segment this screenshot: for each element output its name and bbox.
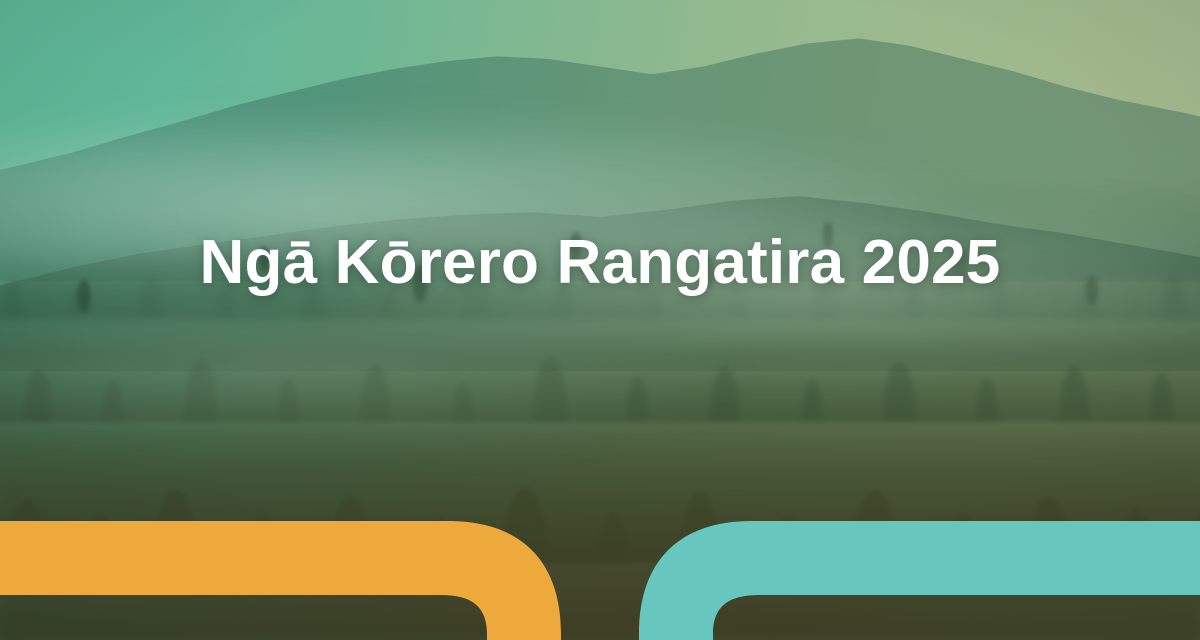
vignette-overlay [0,0,1200,640]
event-banner: Ngā Kōrero Rangatira 2025 [0,0,1200,640]
page-title: Ngā Kōrero Rangatira 2025 [0,232,1200,294]
background-photo [0,0,1200,640]
